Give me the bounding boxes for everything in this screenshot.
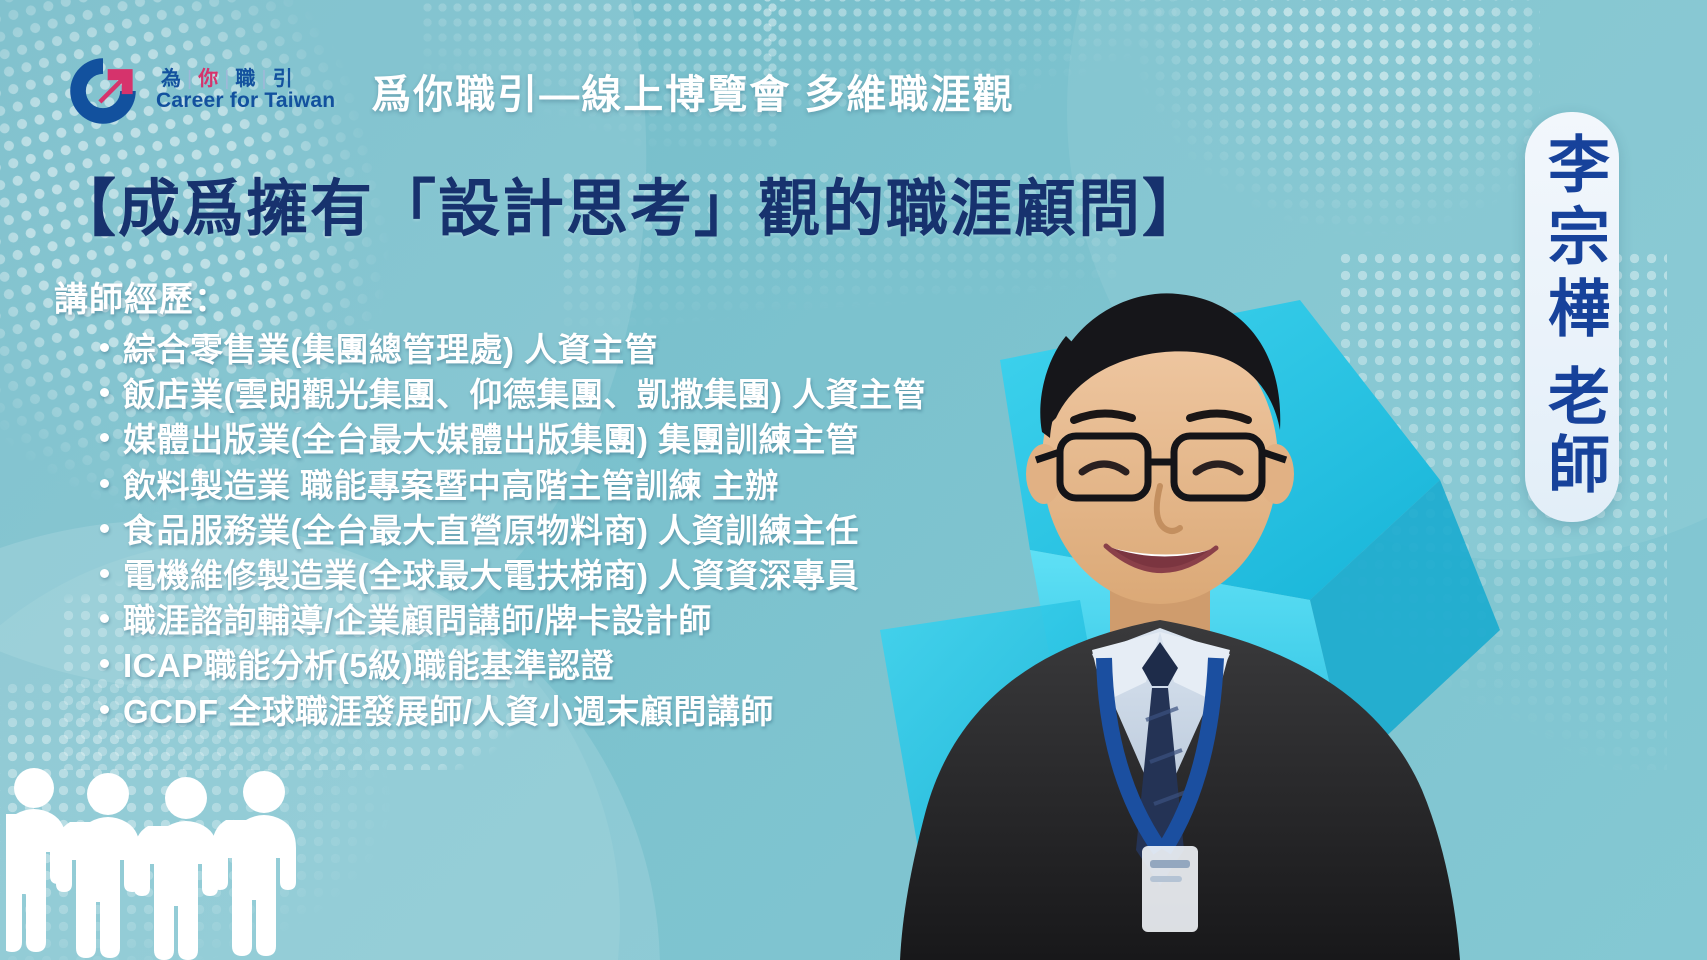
bullet-icon	[100, 569, 109, 578]
logo-char-2: 職	[230, 69, 261, 89]
bullet-icon	[100, 343, 109, 352]
list-item: 飯店業(雲朗觀光集團、仰德集團、凱撒集團) 人資主管	[54, 372, 926, 417]
page-title: 【成爲擁有「設計思考」觀的職涯顧問】	[54, 158, 1206, 248]
career-arrow-ring-logo-icon	[64, 52, 142, 130]
instructor-credentials: 講師經歷： 綜合零售業(集團總管理處) 人資主管 飯店業(雲朗觀光集團、仰德集團…	[54, 272, 926, 734]
bullet-icon	[100, 388, 109, 397]
list-item-label: 飯店業(雲朗觀光集團、仰德集團、凱撒集團) 人資主管	[123, 372, 926, 417]
list-item-label: ICAP職能分析(5級)職能基準認證	[123, 643, 614, 688]
credentials-heading: 講師經歷：	[54, 272, 926, 321]
list-item-label: 職涯諮詢輔導/企業顧問講師/牌卡設計師	[123, 598, 712, 643]
logo-chinese-text: 為 | 你 | 職 | 引	[156, 69, 335, 89]
logo-char-0: 為	[156, 69, 187, 89]
speaker-name-badge: 李宗樺 老師	[1525, 112, 1619, 522]
logo-english-text: Career for Taiwan	[156, 90, 335, 112]
brand-logo: 為 | 你 | 職 | 引 Career for Taiwan	[64, 52, 335, 130]
list-item-label: 電機維修製造業(全球最大電扶梯商) 人資資深專員	[123, 553, 859, 598]
people-group-icon	[6, 760, 306, 960]
bullet-icon	[100, 614, 109, 623]
list-item-label: 飲料製造業 職能專案暨中高階主管訓練 主辦	[123, 463, 779, 508]
list-item: 飲料製造業 職能專案暨中高階主管訓練 主辦	[54, 463, 926, 508]
credentials-list: 綜合零售業(集團總管理處) 人資主管 飯店業(雲朗觀光集團、仰德集團、凱撒集團)…	[54, 327, 926, 734]
list-item: 職涯諮詢輔導/企業顧問講師/牌卡設計師	[54, 598, 926, 643]
list-item: 電機維修製造業(全球最大電扶梯商) 人資資深專員	[54, 553, 926, 598]
list-item: 媒體出版業(全台最大媒體出版集團) 集團訓練主管	[54, 417, 926, 462]
list-item-label: 食品服務業(全台最大直營原物料商) 人資訓練主任	[123, 508, 859, 553]
list-item: GCDF 全球職涯發展師/人資小週末顧問講師	[54, 689, 926, 734]
speaker-photo	[860, 250, 1560, 960]
list-item: ICAP職能分析(5級)職能基準認證	[54, 643, 926, 688]
slide-header: 為 | 你 | 職 | 引 Career for Taiwan 爲你職引—線上博…	[64, 52, 1014, 130]
bullet-icon	[100, 479, 109, 488]
bullet-icon	[100, 433, 109, 442]
bullet-icon	[100, 659, 109, 668]
speaker-honorific: 老師	[1541, 364, 1603, 500]
logo-char-3: 引	[268, 69, 299, 89]
presentation-slide: 為 | 你 | 職 | 引 Career for Taiwan 爲你職引—線上博…	[0, 0, 1707, 960]
bullet-icon	[100, 705, 109, 714]
list-item-label: 綜合零售業(集團總管理處) 人資主管	[123, 327, 658, 372]
logo-char-1: 你	[193, 69, 224, 89]
list-item-label: 媒體出版業(全台最大媒體出版集團) 集團訓練主管	[123, 417, 859, 462]
bullet-icon	[100, 524, 109, 533]
event-title: 爲你職引—線上博覽會 多維職涯觀	[371, 62, 1014, 120]
list-item: 食品服務業(全台最大直營原物料商) 人資訓練主任	[54, 508, 926, 553]
speaker-name: 李宗樺	[1541, 132, 1603, 348]
list-item-label: GCDF 全球職涯發展師/人資小週末顧問講師	[123, 689, 774, 734]
list-item: 綜合零售業(集團總管理處) 人資主管	[54, 327, 926, 372]
